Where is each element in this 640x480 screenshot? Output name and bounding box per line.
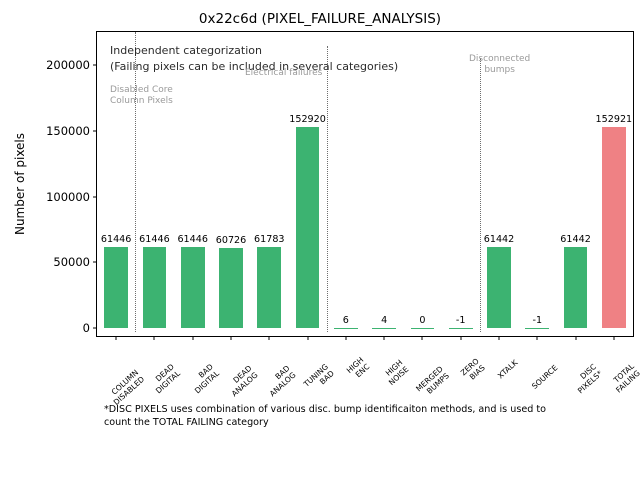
x-tick-label: DEADANALOG: [224, 364, 259, 398]
annotation-electrical-failures: Electrical failures: [245, 68, 322, 79]
plot-canvas: 0500001000001500002000006144661446614466…: [97, 32, 633, 336]
x-tick-label-line: XTALK: [497, 359, 520, 381]
x-tick-label: TUNINGBAD: [302, 363, 335, 395]
bar[interactable]: [181, 247, 205, 328]
annotation-disconnected-bumps: Disconnected bumps: [469, 54, 530, 76]
bar-value-label: 152921: [596, 114, 633, 125]
annotation-disabled-core-line-1: Disabled Core: [110, 85, 173, 96]
bar[interactable]: [449, 328, 473, 329]
x-tick-mark: [116, 336, 117, 340]
footnote-line-1: *DISC PIXELS uses combination of various…: [104, 404, 507, 415]
bar[interactable]: [411, 328, 435, 329]
bar-value-label: 152920: [289, 114, 326, 125]
x-tick-label: TOTALFAILING: [609, 362, 640, 394]
bar-value-label: 61446: [177, 234, 208, 245]
bar-value-label: 6: [343, 315, 349, 326]
x-axis-tick-labels: COLUMNDISABLEDDEADDIGITALBADDIGITALDEADA…: [96, 343, 634, 403]
bar-value-label: 61783: [254, 234, 285, 245]
bar-value-label: 61446: [101, 234, 132, 245]
bar[interactable]: [296, 127, 320, 328]
bar[interactable]: [143, 247, 167, 328]
bar[interactable]: [219, 248, 243, 328]
x-tick-label: COLUMNDISABLED: [106, 369, 146, 407]
y-tick-mark: [93, 328, 97, 329]
annotation-disabled-core-line-2: Column Pixels: [110, 96, 173, 107]
x-tick-label: XTALK: [497, 359, 520, 381]
y-tick-label: 150000: [46, 124, 97, 138]
chart-figure: 0x22c6d (PIXEL_FAILURE_ANALYSIS) Number …: [0, 0, 640, 480]
x-tick-mark: [154, 336, 155, 340]
x-tick-mark: [613, 336, 614, 340]
bar-value-label: -1: [456, 315, 466, 326]
x-tick-label: BADANALOG: [263, 364, 298, 398]
bar[interactable]: [372, 328, 396, 329]
x-tick-mark: [537, 336, 538, 340]
y-axis-label: Number of pixels: [11, 31, 29, 337]
x-tick-label: ZEROBIAS: [459, 357, 486, 384]
bar[interactable]: [602, 127, 626, 328]
group-divider: [135, 32, 136, 332]
y-tick-mark: [93, 130, 97, 131]
bar-value-label: 61446: [139, 234, 170, 245]
x-tick-mark: [231, 336, 232, 340]
x-tick-mark: [575, 336, 576, 340]
group-divider: [327, 46, 328, 332]
x-tick-mark: [499, 336, 500, 340]
y-tick-label: 200000: [46, 58, 97, 72]
x-tick-label: DEADDIGITAL: [149, 363, 182, 395]
bar[interactable]: [525, 328, 549, 329]
plot-area: 0500001000001500002000006144661446614466…: [96, 31, 634, 337]
bar-value-label: -1: [532, 315, 542, 326]
x-tick-mark: [460, 336, 461, 340]
annotation-line-1: Independent categorization: [110, 43, 398, 59]
annotation-disconnected-line-1: Disconnected: [469, 54, 530, 65]
annotation-disabled-core-column-pixels: Disabled Core Column Pixels: [110, 85, 173, 107]
bar[interactable]: [487, 247, 511, 328]
x-tick-label-line: SOURCE: [531, 364, 560, 391]
bar[interactable]: [104, 247, 128, 328]
bar-value-label: 0: [419, 315, 425, 326]
x-tick-label: HIGHNOISE: [382, 359, 411, 387]
bar[interactable]: [257, 247, 281, 328]
x-tick-mark: [269, 336, 270, 340]
x-tick-label: MERGEDBUMPS: [415, 365, 451, 400]
bar-value-label: 4: [381, 315, 387, 326]
x-tick-mark: [307, 336, 308, 340]
y-tick-mark: [93, 262, 97, 263]
x-tick-label: DISCPIXELS*: [570, 363, 603, 395]
y-tick-mark: [93, 64, 97, 65]
y-tick-label: 100000: [46, 190, 97, 204]
x-tick-label: SOURCE: [531, 364, 560, 391]
chart-footnote: *DISC PIXELS uses combination of various…: [104, 404, 574, 429]
bar-value-label: 61442: [560, 234, 591, 245]
x-tick-label: BADDIGITAL: [187, 363, 220, 395]
y-tick-label: 50000: [53, 255, 97, 269]
bar-value-label: 60726: [216, 235, 247, 246]
x-tick-mark: [345, 336, 346, 340]
x-tick-label: HIGHENC: [345, 356, 371, 382]
bar[interactable]: [564, 247, 588, 328]
bar[interactable]: [334, 328, 358, 329]
x-tick-mark: [422, 336, 423, 340]
x-tick-mark: [192, 336, 193, 340]
x-tick-mark: [384, 336, 385, 340]
y-tick-mark: [93, 196, 97, 197]
group-divider: [480, 58, 481, 332]
bar-value-label: 61442: [484, 234, 515, 245]
annotation-disconnected-line-2: bumps: [469, 65, 530, 76]
chart-title: 0x22c6d (PIXEL_FAILURE_ANALYSIS): [0, 11, 640, 27]
